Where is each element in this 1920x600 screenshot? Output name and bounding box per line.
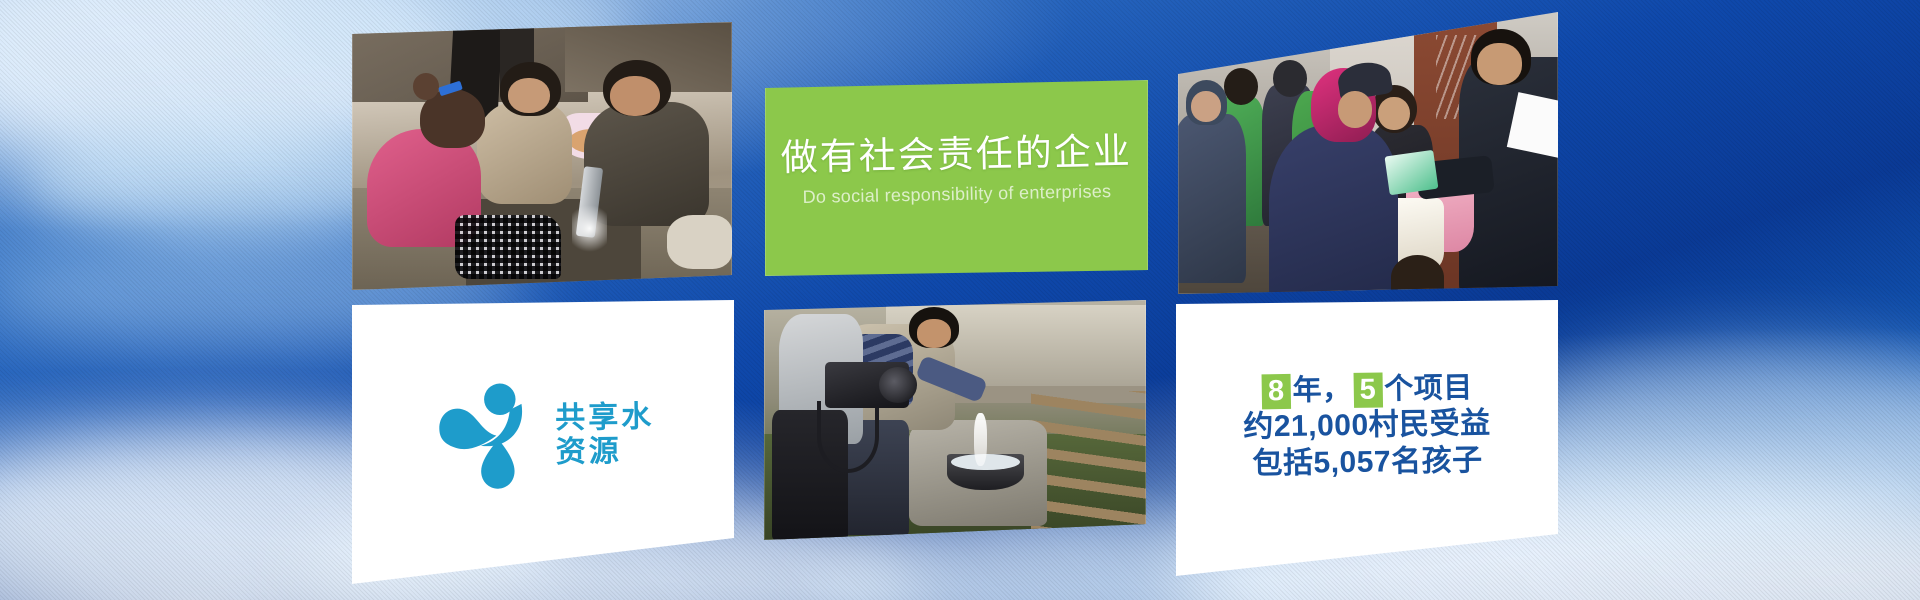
impact-stats-text: 8年，5个项目 约21,000村民受益 包括5,057名孩子	[1243, 371, 1492, 483]
stats-line-projects: 8年，5个项目	[1243, 371, 1491, 410]
stats-years-unit: 年，	[1292, 374, 1352, 407]
logo-wordmark-line2: 资源	[555, 435, 654, 470]
impact-stats-card[interactable]: 8年，5个项目 约21,000村民受益 包括5,057名孩子	[1176, 300, 1558, 576]
logo-wordmark-line1: 共享水	[555, 401, 654, 436]
green-slogan-banner[interactable]: 做有社会责任的企业 Do social responsibility of en…	[765, 80, 1148, 276]
stats-line-villagers: 约21,000村民受益	[1243, 406, 1491, 446]
photo-children-washing-at-water-tap[interactable]	[352, 22, 732, 290]
logo-wordmark: 共享水 资源	[555, 401, 655, 470]
brand-logo: 共享水 资源	[431, 379, 656, 494]
stats-projects-value: 5	[1353, 372, 1382, 408]
photo-man-demonstrating-water-spring[interactable]	[764, 300, 1146, 540]
banner-title-cn: 做有社会责任的企业	[765, 128, 1148, 180]
banner-text-block: 做有社会责任的企业 Do social responsibility of en…	[765, 128, 1148, 208]
logo-card[interactable]: 共享水 资源	[352, 300, 734, 584]
banner-stage: 做有社会责任的企业 Do social responsibility of en…	[0, 0, 1920, 600]
water-droplet-person-logo-icon	[431, 380, 551, 494]
stats-projects-unit: 个项目	[1384, 372, 1473, 405]
stats-years-value: 8	[1262, 374, 1291, 410]
photo-artwork	[352, 22, 732, 290]
stats-line-children: 包括5,057名孩子	[1244, 443, 1492, 483]
photo-artwork	[764, 300, 1146, 540]
